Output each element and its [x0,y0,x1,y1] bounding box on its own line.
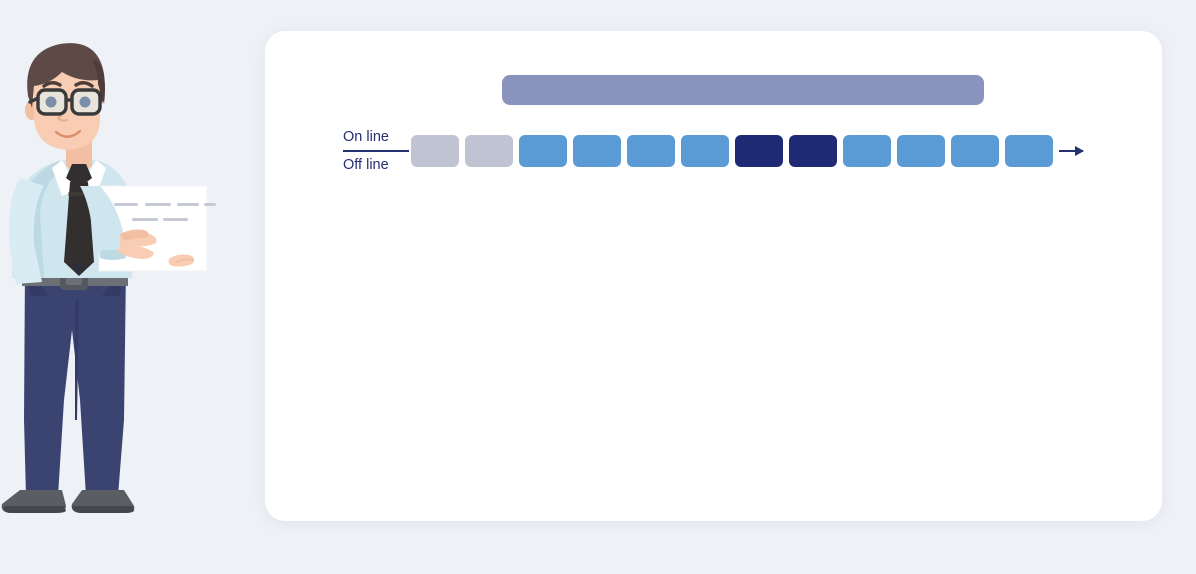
status-block-6[interactable] [681,135,729,167]
main-panel: On line Off line [265,31,1162,521]
status-block-4[interactable] [573,135,621,167]
status-block-12[interactable] [1005,135,1053,167]
status-block-1[interactable] [411,135,459,167]
axis-labels: On line Off line [343,128,401,174]
status-block-9[interactable] [843,135,891,167]
axis-divider [343,150,409,152]
status-block-5[interactable] [627,135,675,167]
cuff [96,228,120,250]
status-block-3[interactable] [519,135,567,167]
axis-label-online: On line [343,130,389,145]
status-block-11[interactable] [951,135,999,167]
illustration-businessman [0,0,230,574]
banner-placeholder-bar [502,75,984,105]
glasses-icon [30,90,100,114]
status-block-7[interactable] [735,135,783,167]
timeline-arrow-icon [1059,150,1083,152]
status-block-2[interactable] [465,135,513,167]
line-status-timeline: On line Off line [343,121,1083,181]
shoes [2,490,135,513]
status-block-8[interactable] [789,135,837,167]
businessman-figure [0,0,230,574]
pants [24,268,126,496]
status-block-row [411,135,1053,167]
axis-label-offline: Off line [343,158,389,173]
status-block-10[interactable] [897,135,945,167]
